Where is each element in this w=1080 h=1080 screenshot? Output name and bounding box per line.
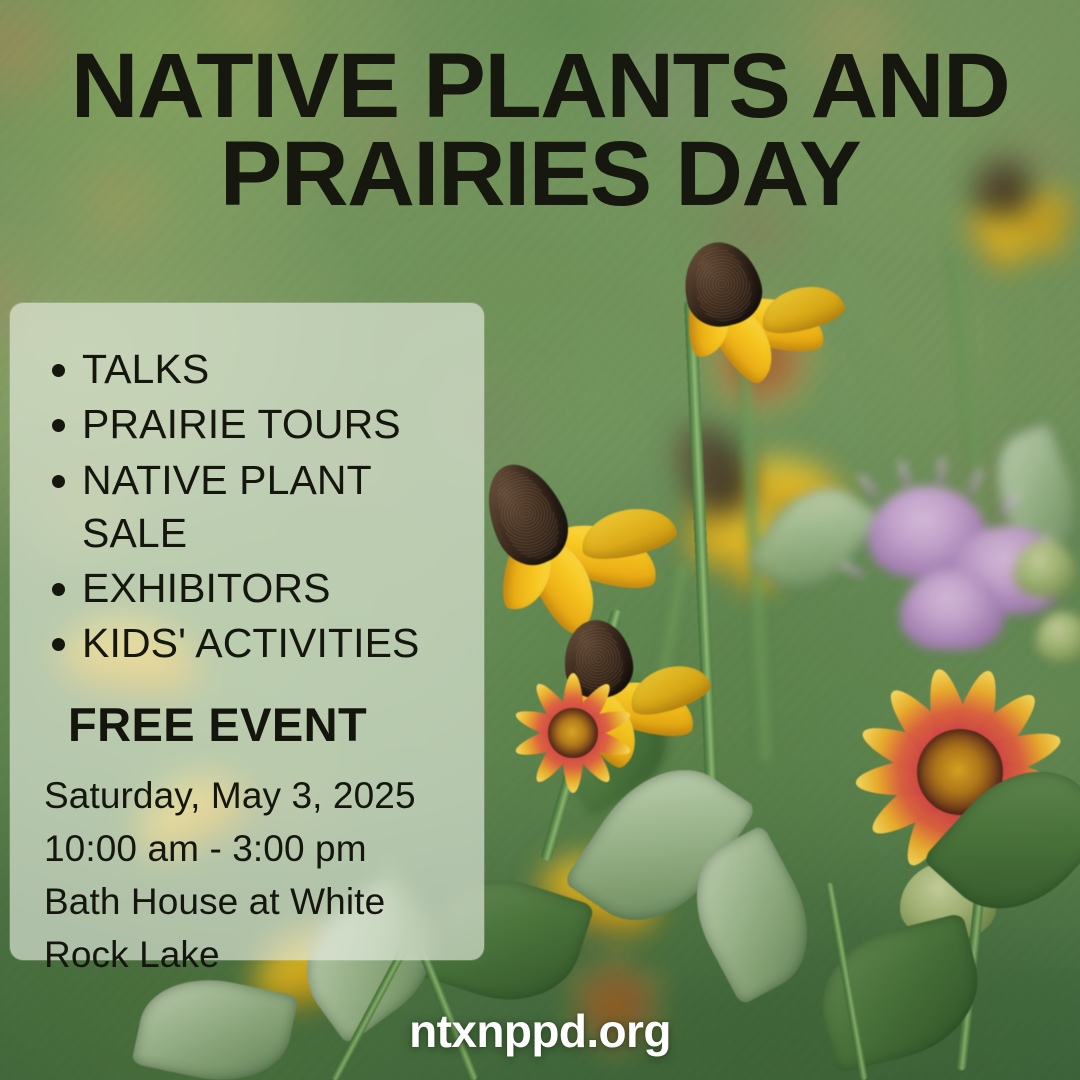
- info-panel: TALKS PRAIRIE TOURS NATIVE PLANT SALE EX…: [10, 303, 484, 960]
- list-item: TALKS: [44, 343, 466, 396]
- poster-content: NATIVE PLANTS AND PRAIRIES DAY TALKS PRA…: [0, 0, 1080, 1080]
- event-details: Saturday, May 3, 2025 10:00 am - 3:00 pm…: [44, 770, 466, 982]
- headline-line-2: PRAIRIES DAY: [16, 130, 1065, 218]
- detail-venue-1: Bath House at White: [44, 876, 466, 929]
- detail-time: 10:00 am - 3:00 pm: [44, 823, 466, 876]
- detail-venue-2: Rock Lake: [44, 929, 466, 982]
- list-item: KIDS' ACTIVITIES: [44, 617, 466, 670]
- list-item: NATIVE PLANT SALE: [44, 454, 466, 561]
- page-title: NATIVE PLANTS AND PRAIRIES DAY: [0, 42, 1080, 219]
- poster-canvas: NATIVE PLANTS AND PRAIRIES DAY TALKS PRA…: [0, 0, 1080, 1080]
- website-url[interactable]: ntxnppd.org: [0, 1004, 1080, 1058]
- free-event-heading: FREE EVENT: [68, 697, 466, 752]
- list-item: EXHIBITORS: [44, 562, 466, 615]
- headline-line-1: NATIVE PLANTS AND: [16, 42, 1065, 130]
- detail-date: Saturday, May 3, 2025: [44, 770, 466, 823]
- activities-list: TALKS PRAIRIE TOURS NATIVE PLANT SALE EX…: [44, 343, 466, 671]
- list-item: PRAIRIE TOURS: [44, 398, 466, 451]
